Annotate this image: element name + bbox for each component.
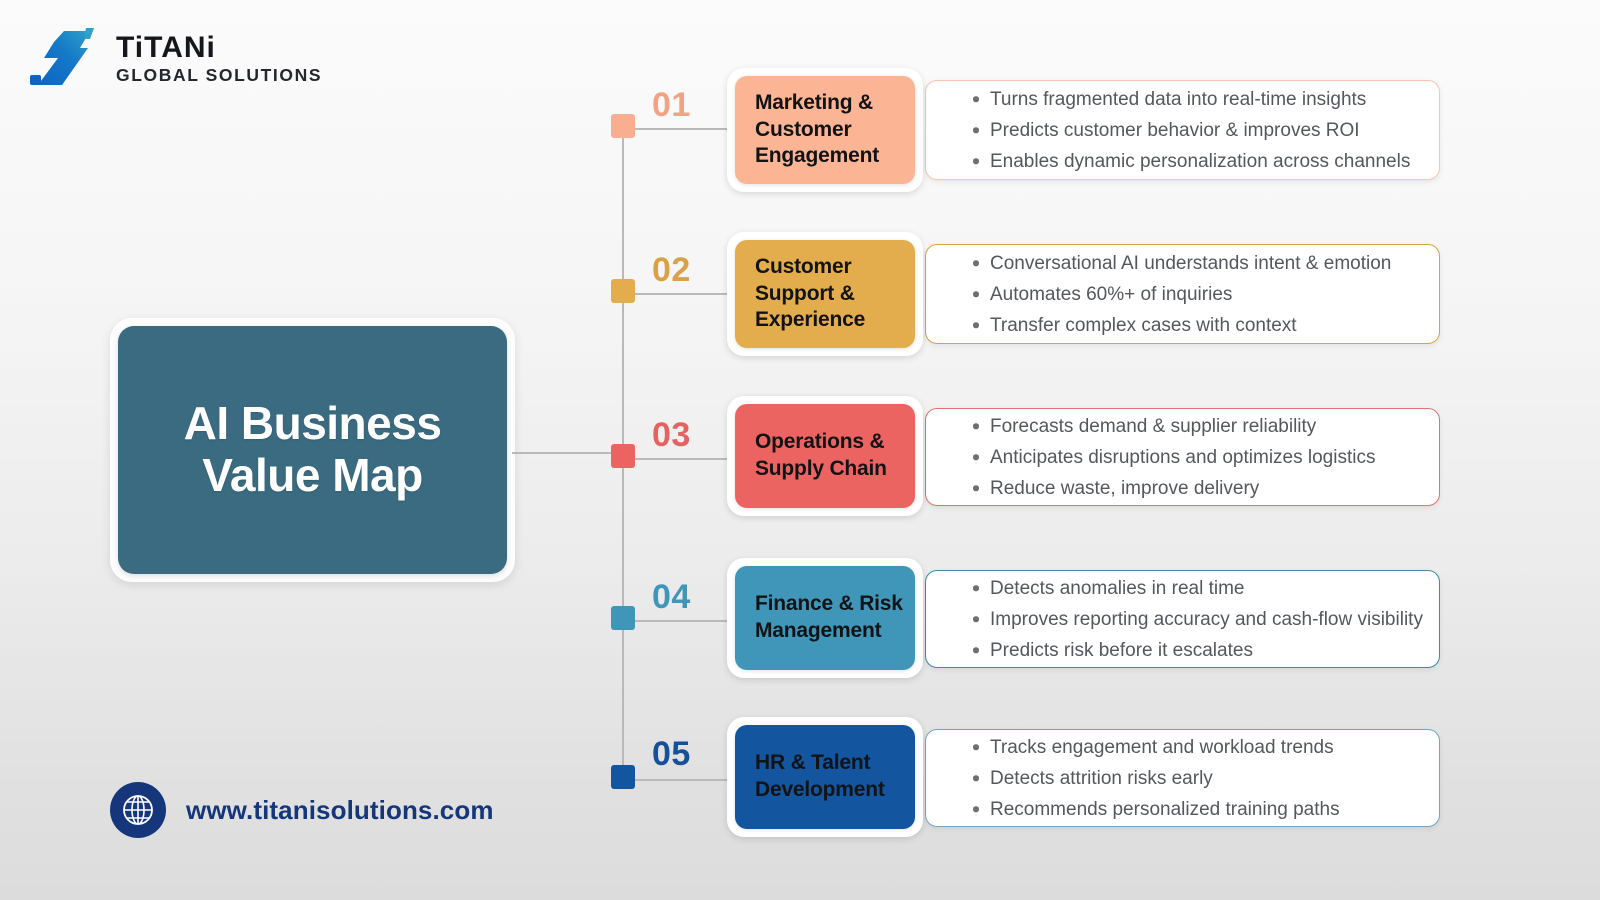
benefit-item: Automates 60%+ of inquiries — [964, 285, 1439, 304]
benefit-item: Detects anomalies in real time — [964, 579, 1439, 598]
category-card[interactable]: HR & Talent Development — [735, 725, 915, 829]
footer: www.titanisolutions.com — [110, 782, 494, 838]
timeline-marker[interactable] — [611, 444, 635, 468]
category-card[interactable]: Marketing & Customer Engagement — [735, 76, 915, 184]
detail-panel: Turns fragmented data into real-time ins… — [925, 80, 1440, 180]
benefit-item: Turns fragmented data into real-time ins… — [964, 90, 1439, 109]
globe-icon — [110, 782, 166, 838]
row-connector-line — [622, 128, 727, 130]
detail-panel: Tracks engagement and workload trendsDet… — [925, 729, 1440, 827]
row-connector-line — [622, 293, 727, 295]
brand-tagline: GLOBAL SOLUTIONS — [116, 65, 322, 87]
benefit-item: Conversational AI understands intent & e… — [964, 254, 1439, 273]
benefit-item: Predicts risk before it escalates — [964, 641, 1439, 660]
timeline-marker[interactable] — [611, 606, 635, 630]
step-number: 03 — [652, 416, 691, 455]
detail-panel: Detects anomalies in real timeImproves r… — [925, 570, 1440, 668]
benefit-list: Turns fragmented data into real-time ins… — [926, 90, 1439, 171]
hero-card: AI Business Value Map — [118, 326, 507, 574]
timeline-marker[interactable] — [611, 765, 635, 789]
step-number: 02 — [652, 251, 691, 290]
category-card[interactable]: Customer Support & Experience — [735, 240, 915, 348]
brand-logo: TiTANi GLOBAL SOLUTIONS — [28, 22, 322, 94]
row-connector-line — [622, 779, 727, 781]
step-number: 01 — [652, 86, 691, 125]
benefit-list: Detects anomalies in real timeImproves r… — [926, 579, 1439, 660]
timeline-marker[interactable] — [611, 114, 635, 138]
category-title: Marketing & Customer Engagement — [735, 90, 879, 171]
hero-connector-line — [512, 452, 624, 454]
benefit-item: Forecasts demand & supplier reliability — [964, 417, 1439, 436]
row-connector-line — [622, 458, 727, 460]
timeline-marker[interactable] — [611, 279, 635, 303]
website-url[interactable]: www.titanisolutions.com — [186, 795, 494, 826]
benefit-list: Tracks engagement and workload trendsDet… — [926, 738, 1439, 819]
benefit-item: Anticipates disruptions and optimizes lo… — [964, 448, 1439, 467]
detail-panel: Conversational AI understands intent & e… — [925, 244, 1440, 344]
category-title: HR & Talent Development — [735, 750, 885, 804]
benefit-item: Tracks engagement and workload trends — [964, 738, 1439, 757]
category-card[interactable]: Finance & Risk Management — [735, 566, 915, 670]
step-number: 05 — [652, 735, 691, 774]
step-number: 04 — [652, 578, 691, 617]
category-title: Customer Support & Experience — [735, 254, 865, 335]
detail-panel: Forecasts demand & supplier reliabilityA… — [925, 408, 1440, 506]
benefit-item: Improves reporting accuracy and cash-flo… — [964, 610, 1439, 629]
benefit-item: Predicts customer behavior & improves RO… — [964, 121, 1439, 140]
benefit-item: Transfer complex cases with context — [964, 316, 1439, 335]
benefit-item: Detects attrition risks early — [964, 769, 1439, 788]
page-title: AI Business Value Map — [184, 398, 442, 502]
benefit-list: Conversational AI understands intent & e… — [926, 254, 1439, 335]
benefit-item: Reduce waste, improve delivery — [964, 479, 1439, 498]
row-connector-line — [622, 620, 727, 622]
category-title: Operations & Supply Chain — [735, 429, 887, 483]
category-title: Finance & Risk Management — [735, 591, 903, 645]
benefit-item: Enables dynamic personalization across c… — [964, 152, 1439, 171]
titani-logo-mark — [28, 22, 106, 94]
category-card[interactable]: Operations & Supply Chain — [735, 404, 915, 508]
benefit-item: Recommends personalized training paths — [964, 800, 1439, 819]
brand-name: TiTANi — [116, 33, 322, 64]
benefit-list: Forecasts demand & supplier reliabilityA… — [926, 417, 1439, 498]
